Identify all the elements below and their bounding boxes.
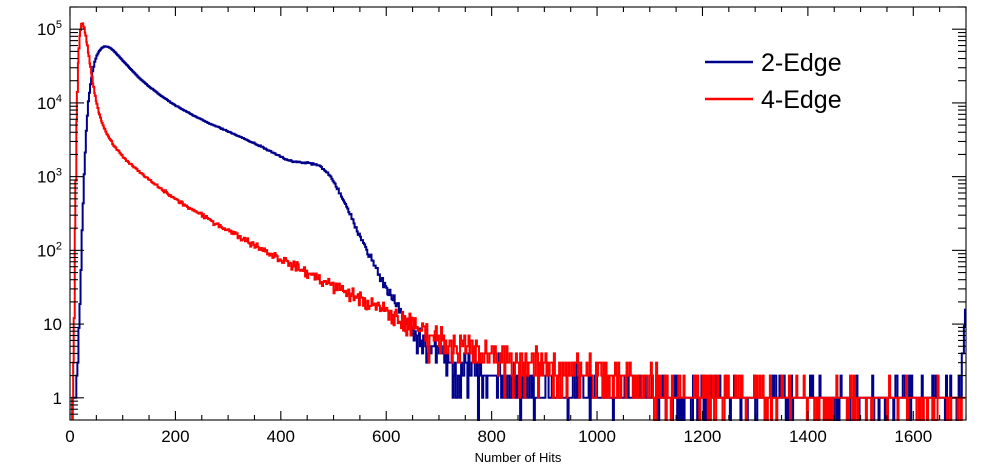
y-tick-label: 1 (53, 389, 62, 408)
legend-label-4-edge: 4-Edge (761, 86, 842, 114)
y-tick-label: 103 (37, 167, 62, 187)
histogram-plot: 0200400600800100012001400160011010210310… (0, 0, 996, 472)
x-tick-label: 1400 (789, 427, 827, 446)
x-axis-title: Number of Hits (475, 450, 562, 465)
legend-label-2-edge: 2-Edge (761, 49, 842, 77)
y-tick-label: 105 (37, 19, 62, 39)
y-tick-label: 10 (43, 315, 62, 334)
y-tick-label: 102 (37, 240, 62, 260)
x-tick-label: 1200 (684, 427, 722, 446)
x-tick-label: 400 (267, 427, 295, 446)
x-tick-label: 600 (372, 427, 400, 446)
x-tick-label: 800 (477, 427, 505, 446)
y-tick-label: 104 (37, 93, 62, 113)
x-tick-label: 1600 (894, 427, 932, 446)
chart-container: 0200400600800100012001400160011010210310… (0, 0, 996, 472)
x-tick-label: 200 (161, 427, 189, 446)
x-tick-label: 0 (65, 427, 74, 446)
x-tick-label: 1000 (578, 427, 616, 446)
